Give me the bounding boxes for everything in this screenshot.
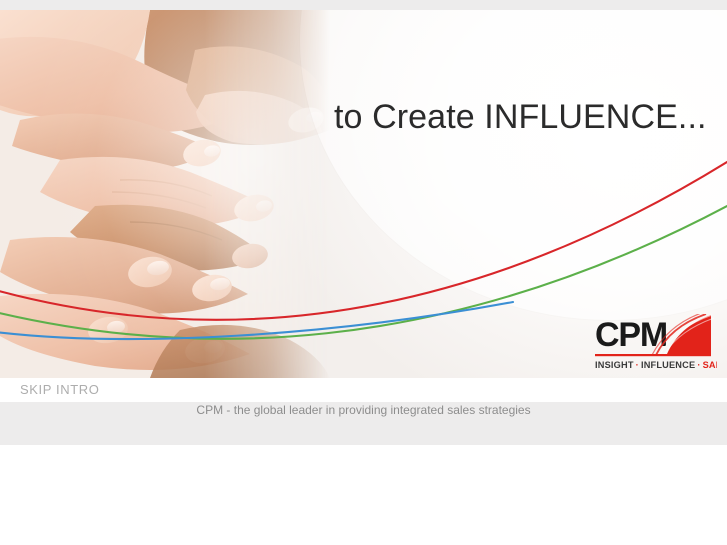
strapline: CPM - the global leader in providing int… bbox=[0, 403, 727, 417]
top-spacer-strip bbox=[0, 0, 727, 10]
logo-tagline: INSIGHT·INFLUENCE·SALES bbox=[595, 360, 717, 370]
tagline-insight: INSIGHT bbox=[595, 360, 634, 370]
tagline-sales: SALES bbox=[703, 360, 717, 370]
hands-photo bbox=[0, 10, 330, 378]
tagline-influence: INFLUENCE bbox=[641, 360, 695, 370]
hero-headline: to Create INFLUENCE... bbox=[334, 98, 707, 137]
hero-banner: to Create INFLUENCE... CPM bbox=[0, 10, 727, 378]
splash-page: to Create INFLUENCE... CPM bbox=[0, 0, 727, 545]
skip-intro-link[interactable]: SKIP INTRO bbox=[20, 382, 99, 397]
skip-intro-bar: SKIP INTRO bbox=[0, 378, 727, 402]
cpm-logo[interactable]: CPM INSIGHT·INFLUENCE·SALES bbox=[593, 314, 717, 376]
